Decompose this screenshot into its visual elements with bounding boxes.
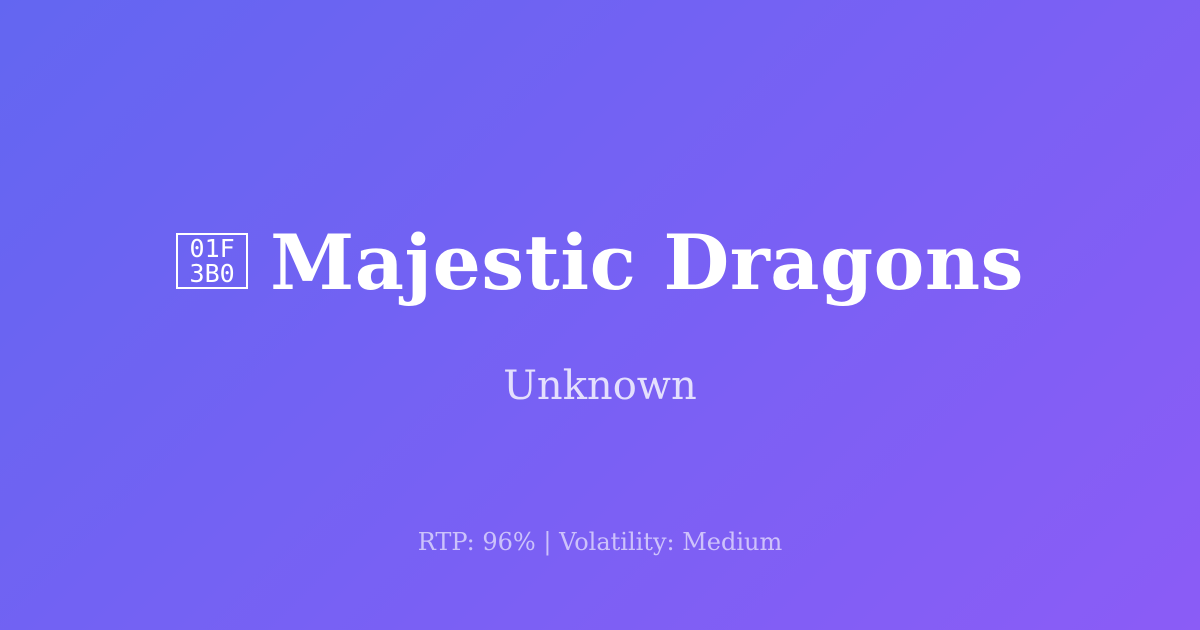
provider-name: Unknown [503,305,697,409]
game-meta-line: RTP: 96% | Volatility: Medium [0,528,1200,556]
slot-machine-icon: 01F 3B0 [176,233,248,289]
title-row: 01F 3B0 Majestic Dragons [176,221,1024,305]
og-share-card: 01F 3B0 Majestic Dragons Unknown RTP: 96… [0,0,1200,630]
page-title: Majestic Dragons [270,221,1024,305]
tofu-codepoint-bottom: 3B0 [190,261,235,286]
tofu-codepoint-top: 01F [190,236,235,261]
